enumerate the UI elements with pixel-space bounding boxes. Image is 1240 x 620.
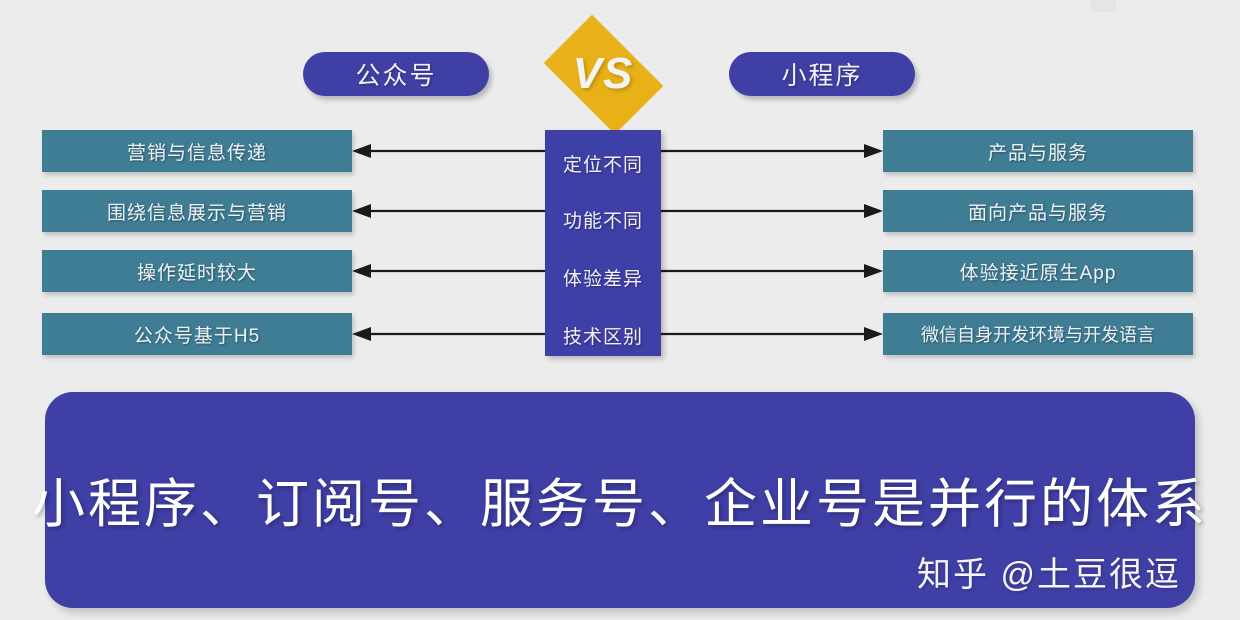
left-box-row-3[interactable]: 操作延时较大 (42, 250, 352, 292)
versus-diamond: VS (503, 26, 703, 122)
center-label-row-3[interactable]: 体验差异 (545, 256, 661, 298)
background-artifact (1090, 0, 1116, 12)
versus-label: VS (503, 26, 703, 122)
arrow-left-row-3 (352, 264, 545, 278)
left-box-row-3-text: 操作延时较大 (137, 258, 257, 285)
left-box-row-2[interactable]: 围绕信息展示与营销 (42, 190, 352, 232)
summary-banner: 小程序、订阅号、服务号、企业号是并行的体系 知乎 @土豆很逗 (45, 392, 1195, 608)
right-box-row-1-text: 产品与服务 (988, 138, 1088, 165)
arrow-right-row-3 (661, 264, 883, 278)
right-box-row-4-text: 微信自身开发环境与开发语言 (921, 321, 1155, 347)
slide-canvas: 公众号 VS 小程序 营销与信息传递 围绕信息展示与营销 操作延时较大 公众号基… (0, 0, 1240, 620)
left-box-row-1-text: 营销与信息传递 (127, 138, 267, 165)
right-box-row-3-text: 体验接近原生App (960, 258, 1117, 285)
left-box-row-2-text: 围绕信息展示与营销 (107, 198, 287, 225)
right-box-row-3[interactable]: 体验接近原生App (883, 250, 1193, 292)
label-pill-official-account[interactable]: 公众号 (303, 52, 489, 96)
right-box-row-2-text: 面向产品与服务 (968, 198, 1108, 225)
center-label-row-2[interactable]: 功能不同 (545, 198, 661, 240)
arrow-right-row-4 (661, 327, 883, 341)
right-box-row-1[interactable]: 产品与服务 (883, 130, 1193, 172)
arrow-left-row-1 (352, 144, 545, 158)
right-box-row-2[interactable]: 面向产品与服务 (883, 190, 1193, 232)
left-box-row-4-text: 公众号基于H5 (134, 321, 260, 348)
arrow-left-row-4 (352, 327, 545, 341)
right-box-row-4[interactable]: 微信自身开发环境与开发语言 (883, 313, 1193, 355)
left-box-row-4[interactable]: 公众号基于H5 (42, 313, 352, 355)
arrow-left-row-2 (352, 204, 545, 218)
arrow-right-row-1 (661, 144, 883, 158)
arrow-right-row-2 (661, 204, 883, 218)
center-criteria-column: 定位不同 功能不同 体验差异 技术区别 (545, 130, 661, 356)
pill-right-text: 小程序 (781, 56, 862, 92)
center-label-row-4[interactable]: 技术区别 (545, 314, 661, 356)
label-pill-mini-program[interactable]: 小程序 (729, 52, 915, 96)
center-label-row-1[interactable]: 定位不同 (545, 142, 661, 184)
pill-left-text: 公众号 (355, 56, 436, 92)
watermark-label: 知乎 @土豆很逗 (917, 547, 1181, 596)
left-box-row-1[interactable]: 营销与信息传递 (42, 130, 352, 172)
